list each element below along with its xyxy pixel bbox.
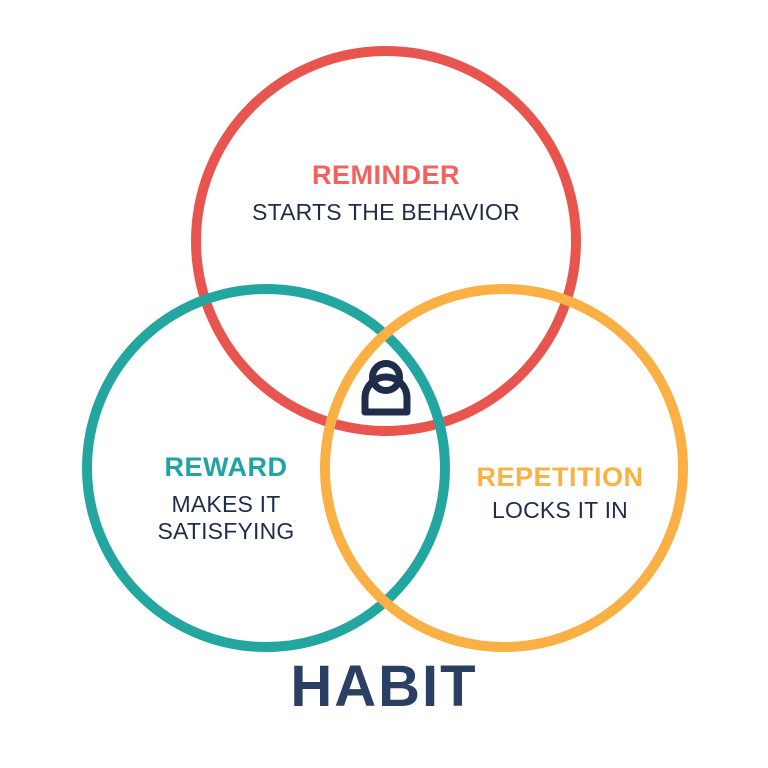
label-reminder-subtitle: STARTS THE BEHAVIOR — [186, 199, 586, 226]
label-reward: REWARD MAKES IT SATISFYING — [116, 452, 336, 545]
person-icon — [365, 364, 407, 413]
label-reminder-title: REMINDER — [186, 160, 586, 192]
label-reminder: REMINDER STARTS THE BEHAVIOR — [186, 160, 586, 226]
label-reward-subtitle-line2: SATISFYING — [116, 518, 336, 545]
diagram-title: HABIT — [0, 653, 768, 720]
venn-diagram-canvas: REMINDER STARTS THE BEHAVIOR REWARD MAKE… — [0, 0, 768, 768]
label-repetition-subtitle: LOCKS IT IN — [436, 497, 684, 524]
label-reward-subtitle-line1: MAKES IT — [116, 491, 336, 518]
label-reward-title: REWARD — [116, 452, 336, 484]
label-repetition: REPETITION LOCKS IT IN — [436, 462, 684, 524]
label-repetition-title: REPETITION — [436, 462, 684, 494]
